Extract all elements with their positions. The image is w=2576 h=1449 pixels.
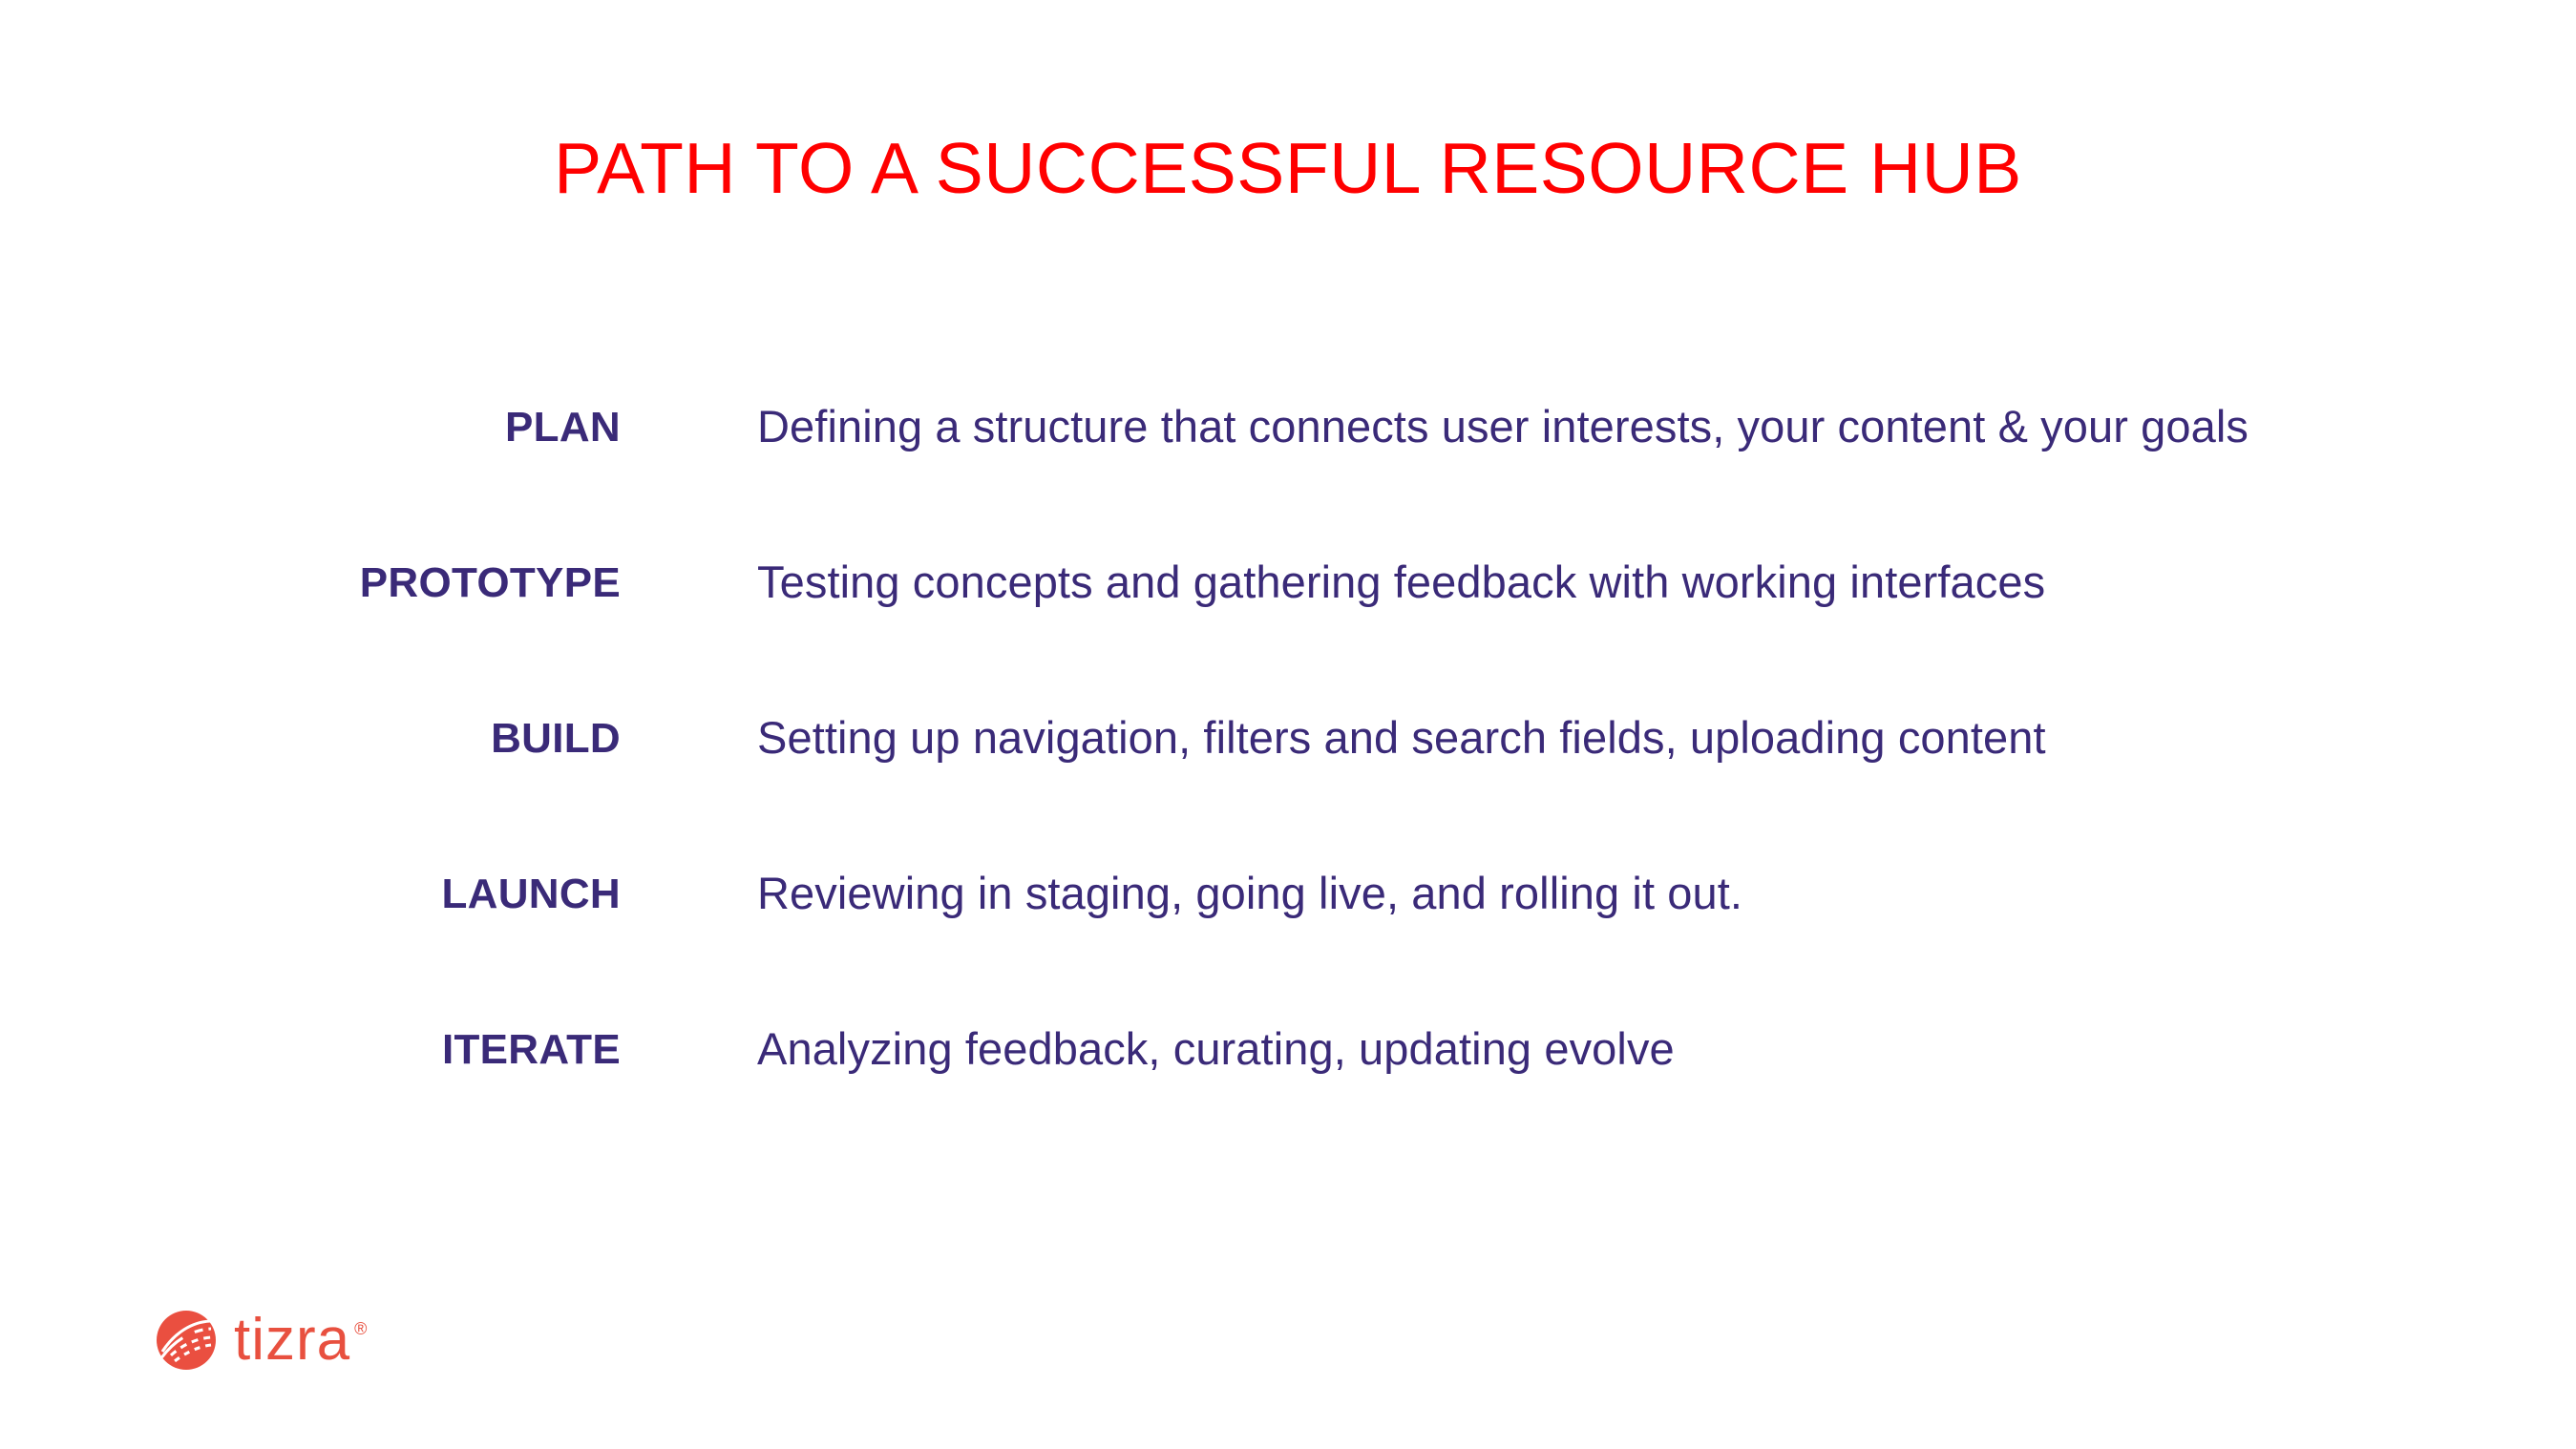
tizra-wordmark-text: tizra [234, 1312, 350, 1369]
step-row-build: BUILD Setting up navigation, filters and… [0, 705, 2576, 861]
step-label-launch: LAUNCH [0, 861, 621, 915]
steps-list: PLAN Defining a structure that connects … [0, 394, 2576, 1172]
step-row-iterate: ITERATE Analyzing feedback, curating, up… [0, 1017, 2576, 1172]
step-description-iterate: Analyzing feedback, curating, updating e… [757, 1017, 2576, 1071]
page-title: PATH TO A SUCCESSFUL RESOURCE HUB [0, 131, 2576, 206]
tizra-circle-mark-icon [156, 1310, 217, 1371]
step-label-prototype: PROTOTYPE [0, 550, 621, 604]
step-row-prototype: PROTOTYPE Testing concepts and gathering… [0, 550, 2576, 705]
registered-trademark-symbol: ® [354, 1320, 367, 1337]
step-description-plan: Defining a structure that connects user … [757, 394, 2576, 449]
step-label-plan: PLAN [0, 394, 621, 449]
tizra-wordmark: tizra ® [234, 1312, 367, 1369]
step-label-iterate: ITERATE [0, 1017, 621, 1071]
step-row-plan: PLAN Defining a structure that connects … [0, 394, 2576, 550]
step-description-prototype: Testing concepts and gathering feedback … [757, 550, 2576, 604]
step-description-launch: Reviewing in staging, going live, and ro… [757, 861, 2576, 915]
step-label-build: BUILD [0, 705, 621, 760]
slide-canvas: PATH TO A SUCCESSFUL RESOURCE HUB PLAN D… [0, 0, 2576, 1449]
step-description-build: Setting up navigation, filters and searc… [757, 705, 2576, 760]
step-row-launch: LAUNCH Reviewing in staging, going live,… [0, 861, 2576, 1017]
tizra-logo: tizra ® [156, 1310, 367, 1371]
